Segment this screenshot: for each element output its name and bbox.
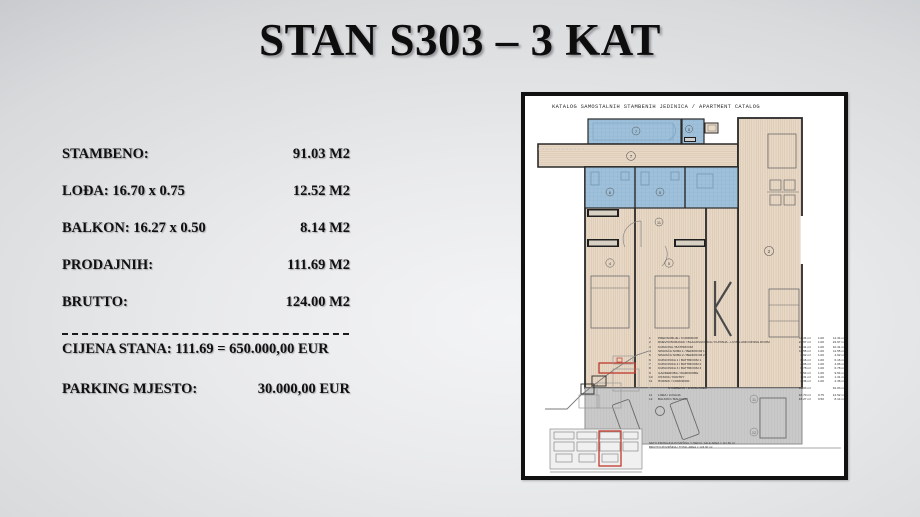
spec-row-stambeno: STAMBENO: 91.03 M2 [62, 146, 350, 183]
row-area: 16.27 m² [790, 397, 811, 401]
parking-label: PARKING MJESTO: [62, 381, 197, 398]
spec-row-brutto: BRUTTO: 124.00 M2 [62, 294, 350, 331]
site-section-diagram [541, 339, 653, 417]
subtotal-factor [811, 386, 824, 390]
row-total: 8.14 m² [824, 397, 845, 401]
row-factor: 1.00 [811, 379, 824, 383]
svg-text:8: 8 [688, 128, 690, 132]
row-total: 2.36 m² [824, 379, 845, 383]
plan-upper-loggia: 7 8 [588, 119, 718, 144]
spec-row-balkon: BALKON: 16.27 x 0.50 8.14 M2 [62, 220, 350, 257]
spec-row-loda: LOĐA: 16.70 x 0.75 12.52 M2 [62, 183, 350, 220]
spec-label: PRODAJNIH: [62, 257, 153, 274]
spec-row-prodajnih: PRODAJNIH: 111.69 M2 [62, 257, 350, 294]
spec-value: 124.00 M2 [286, 294, 350, 311]
svg-text:6: 6 [609, 190, 611, 195]
table-row: 12 BALKON / BALCONY 16.27 m² 0.50 8.14 m… [649, 397, 845, 401]
spec-row-parking: PARKING MJESTO: 30.000,00 EUR [62, 375, 350, 418]
spec-label: STAMBENO: [62, 146, 149, 163]
specification-list: STAMBENO: 91.03 M2 LOĐA: 16.70 x 0.75 12… [62, 146, 350, 418]
floor-plan-panel-inner: KATALOG SAMOSTALNIH STAMBENIH JEDINICA /… [525, 96, 844, 476]
spec-value: 91.03 M2 [293, 146, 350, 163]
key-plan-diagram [547, 426, 645, 480]
parking-value: 30.000,00 EUR [258, 381, 350, 398]
floor-plan-drawing: 7 8 7 [525, 96, 848, 480]
page-title: STAN S303 – 3 KAT [0, 14, 920, 66]
dashed-separator [62, 333, 349, 335]
svg-text:5: 5 [659, 190, 661, 195]
subtotal-area: 91.03 m² [790, 386, 811, 390]
area-schedule-table: 1 PREDSOBLJE / CORRIDOR 11.34 m² 1.00 11… [649, 336, 845, 402]
spec-label: BRUTTO: [62, 294, 128, 311]
spec-value: 8.14 M2 [300, 220, 350, 237]
spec-value: 12.52 M2 [293, 183, 350, 200]
slide-canvas: STAN S303 – 3 KAT STAMBENO: 91.03 M2 LOĐ… [0, 0, 920, 517]
table-note: NETO PRODAJNA POVRŠINA / USEFUL SALE ARE… [649, 441, 839, 449]
spec-label: BALKON: 16.27 x 0.50 [62, 220, 206, 237]
row-number: 12 [649, 397, 658, 401]
subtotal-total: 91.03 m² [824, 386, 845, 390]
spec-value: 111.69 M2 [287, 257, 350, 274]
row-name: HODNIK / CORRIDOR [658, 379, 790, 383]
subtotal-name: STAMBENO / LIVING AREA [658, 386, 790, 390]
row-factor: 0.50 [811, 397, 824, 401]
price-line: CIJENA STANA: 111.69 = 650.000,00 EUR [62, 341, 350, 375]
table-subtotal-row: STAMBENO / LIVING AREA 91.03 m² 91.03 m² [649, 384, 845, 391]
row-name: BALKON / BALCONY [658, 397, 790, 401]
plan-hallway: 7 [538, 144, 738, 167]
table-note-line-2: BRUTTO POVRŠINA / TOTAL AREA = 124.00 m² [649, 445, 839, 449]
row-area: 2.36 m² [790, 379, 811, 383]
svg-text:11: 11 [657, 221, 661, 225]
table-row: 11 HODNIK / CORRIDOR 2.36 m² 1.00 2.36 m… [649, 379, 845, 383]
row-number: 11 [649, 379, 658, 383]
svg-text:12: 12 [752, 431, 756, 435]
spec-label: LOĐA: 16.70 x 0.75 [62, 183, 185, 200]
floor-plan-panel: KATALOG SAMOSTALNIH STAMBENIH JEDINICA /… [521, 92, 848, 480]
